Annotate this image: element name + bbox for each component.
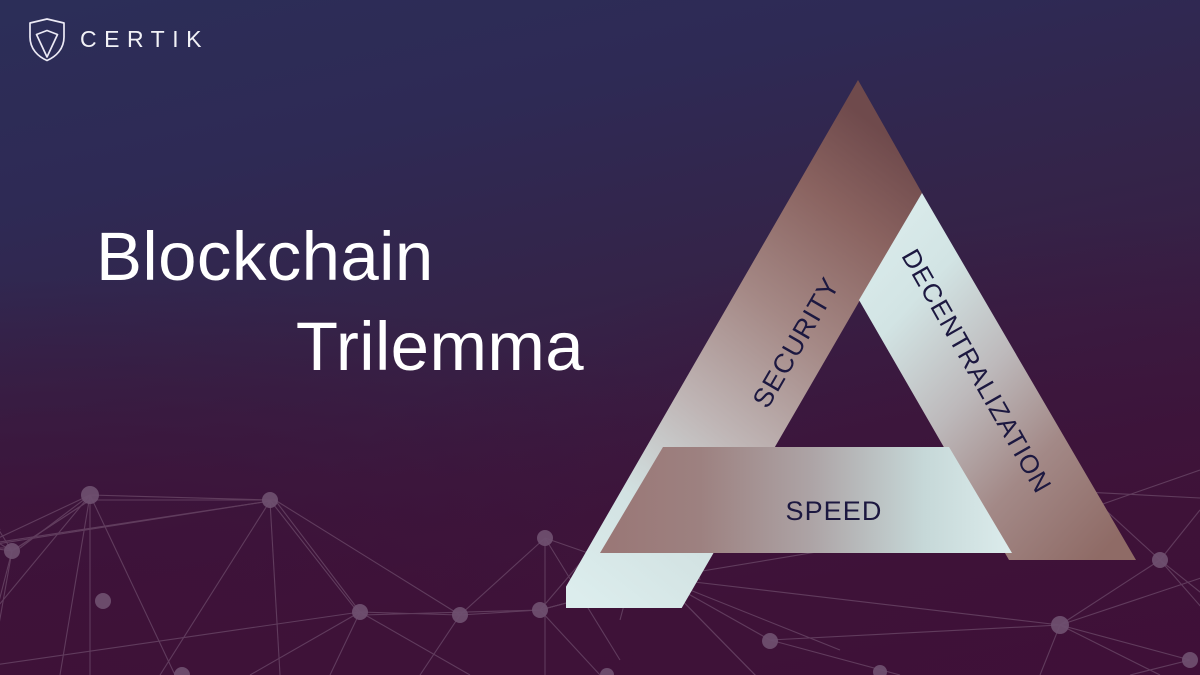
triangle-side-speed: SPEED [600, 447, 1012, 553]
certik-wordmark: CERTIK [80, 28, 209, 51]
certik-logo[interactable]: CERTIK [27, 17, 209, 62]
slide-canvas: CERTIK Blockchain Trilemma [0, 0, 1200, 675]
triangle-side-speed-label: SPEED [785, 496, 882, 526]
certik-shield-icon [27, 17, 67, 62]
page-title-line-2: Trilemma [96, 302, 606, 392]
blockchain-trilemma-triangle: SECURITY DECENTRALIZATION SPEED [566, 48, 1166, 608]
page-title-line-1: Blockchain [96, 212, 606, 302]
page-title: Blockchain Trilemma [96, 212, 606, 391]
